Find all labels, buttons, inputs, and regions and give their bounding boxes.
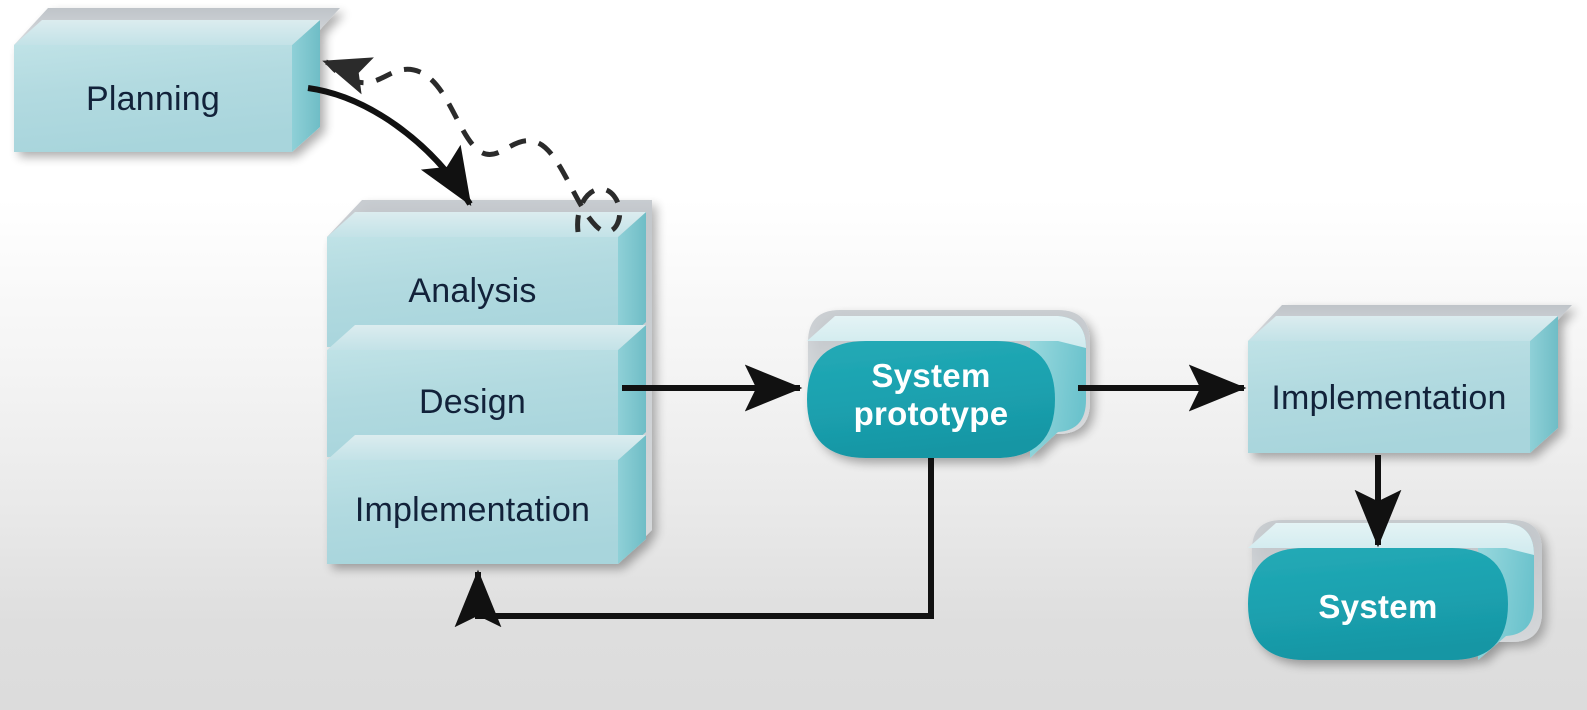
implementation-top-face	[1248, 316, 1558, 341]
stack-section-implementation-top	[327, 435, 646, 460]
planning-top-bevel	[14, 20, 320, 45]
stack-section-analysis-top	[327, 212, 646, 237]
node-stack[interactable]	[327, 200, 652, 564]
diagram-svg	[0, 0, 1587, 710]
node-system[interactable]	[1248, 520, 1542, 660]
stack-section-implementation-front	[327, 460, 618, 564]
system-prototype-front-face	[807, 341, 1055, 458]
stack-section-design-top	[327, 325, 646, 350]
node-planning[interactable]	[14, 8, 340, 152]
connector-planning-to-analysis	[308, 88, 470, 204]
diagram-canvas: Planning Analysis Design Implementation …	[0, 0, 1587, 710]
planning-front-face	[14, 45, 292, 152]
node-implementation[interactable]	[1248, 305, 1572, 453]
implementation-front-face	[1248, 341, 1530, 453]
system-front-face	[1248, 548, 1508, 660]
node-system-prototype[interactable]	[807, 310, 1090, 458]
